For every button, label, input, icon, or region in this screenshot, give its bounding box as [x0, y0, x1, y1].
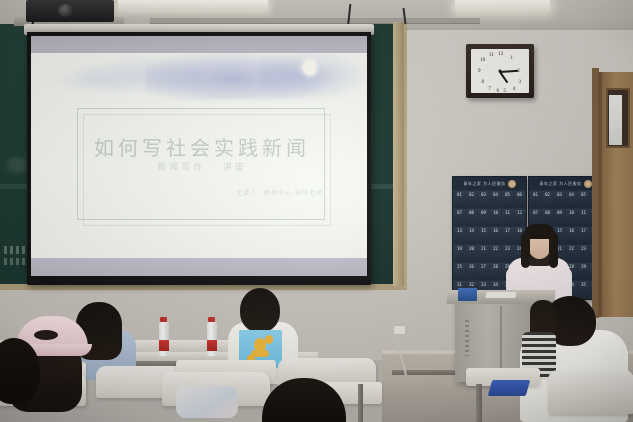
blackboard-frame	[393, 22, 404, 286]
cabinet-cell[interactable]: 03	[478, 191, 489, 208]
clock-number: 9	[478, 69, 481, 74]
cabinet-cell[interactable]: 17	[502, 227, 513, 244]
cabinet-cell[interactable]: 03	[554, 191, 565, 208]
screen-weight-bar	[27, 276, 371, 285]
clock-face: 12 1 2 3 4 5 6 7 8 9 10 11	[471, 49, 529, 93]
cabinet-cell[interactable]: 01	[454, 191, 465, 208]
cabinet-cell[interactable]: 23	[502, 245, 513, 262]
cabinet-cell[interactable]: 16	[490, 227, 501, 244]
classroom-photo: 如何写社会实践新闻 新闻写作 · 讲座 主讲人：新闻中心 指导老师 12 1 2…	[0, 0, 633, 422]
cabinet-header: 青年之家 为人民服务	[453, 177, 526, 190]
cabinet-cell[interactable]: 25	[454, 263, 465, 280]
desk-leg	[358, 384, 363, 422]
cabinet-cell[interactable]: 12	[514, 209, 525, 226]
slide-moon-icon	[303, 60, 316, 75]
cabinet-cell[interactable]: 02	[542, 191, 553, 208]
clock-number: 3	[519, 80, 522, 85]
slide-watercolor-wash	[261, 50, 367, 102]
cabinet-cell[interactable]: 07	[454, 209, 465, 226]
cabinet-cell[interactable]: 35	[578, 281, 589, 298]
cabinet-cell[interactable]: 16	[566, 227, 577, 244]
cabinet-cell[interactable]: 29	[578, 263, 589, 280]
cabinet-cell[interactable]: 11	[502, 209, 513, 226]
presenter-hair-side	[549, 232, 558, 268]
cabinet-cell[interactable]: 09	[554, 209, 565, 226]
cabinet-cell[interactable]: 13	[454, 227, 465, 244]
seal-icon	[584, 180, 592, 188]
bottle-label	[207, 340, 217, 351]
cabinet-cell[interactable]: 04	[566, 191, 577, 208]
cabinet-cell[interactable]: 23	[578, 245, 589, 262]
cabinet-cell[interactable]: 05	[578, 191, 589, 208]
cabinet-cell[interactable]: 21	[478, 245, 489, 262]
lectern-paper	[485, 292, 516, 298]
cabinet-cell[interactable]: 28	[490, 263, 501, 280]
screen-surface: 如何写社会实践新闻 新闻写作 · 讲座 主讲人：新闻中心 指导老师	[31, 36, 367, 280]
cabinet-cell[interactable]: 09	[478, 209, 489, 226]
cabinet-cell[interactable]: 22	[490, 245, 501, 262]
clock-center-pin	[499, 70, 502, 73]
cabinet-cell[interactable]: 11	[578, 209, 589, 226]
slide-credit: 主讲人：新闻中心 指导老师	[181, 188, 323, 197]
cap-hole	[34, 330, 58, 340]
cabinet-cell[interactable]: 06	[514, 191, 525, 208]
bottle-label	[159, 340, 169, 351]
clock-number: 10	[480, 58, 485, 63]
lectern-vent-icon	[465, 320, 469, 356]
presentation-slide: 如何写社会实践新闻 新闻写作 · 讲座 主讲人：新闻中心 指导老师	[31, 36, 367, 280]
clock-number: 6	[497, 89, 500, 94]
cabinet-cell[interactable]: 08	[466, 209, 477, 226]
student-white-tee-head	[240, 288, 280, 332]
wall-clock: 12 1 2 3 4 5 6 7 8 9 10 11	[466, 44, 534, 98]
clock-number: 4	[513, 87, 516, 92]
presenter-hair-side	[521, 232, 530, 268]
cabinet-cell[interactable]: 15	[478, 227, 489, 244]
cabinet-cell[interactable]: 22	[566, 245, 577, 262]
clock-hour-hand	[499, 71, 508, 83]
cabinet-cell[interactable]: 01	[530, 191, 541, 208]
clock-number: 11	[489, 53, 494, 58]
ceiling-light-icon	[118, 0, 268, 11]
cabinet-cell[interactable]: 17	[578, 227, 589, 244]
cabinet-cell[interactable]: 02	[466, 191, 477, 208]
ceiling-conduit	[150, 18, 480, 23]
blue-folder	[488, 380, 531, 396]
lectern-device[interactable]	[458, 288, 477, 301]
clock-number: 8	[481, 80, 484, 85]
cabinet-cell[interactable]: 04	[490, 191, 501, 208]
clock-number: 7	[488, 87, 491, 92]
cabinet-cell[interactable]: 27	[478, 263, 489, 280]
desk-leg	[476, 384, 482, 422]
ceiling-light-icon	[455, 0, 550, 12]
cabinet-cell[interactable]: 20	[466, 245, 477, 262]
cabinet-header-label: 青年之家 为人民服务	[463, 181, 505, 187]
clothing-pile	[176, 386, 238, 418]
seat-back	[548, 370, 633, 414]
slide-subtitle: 新闻写作 · 讲座	[77, 160, 327, 173]
projection-screen: 如何写社会实践新闻 新闻写作 · 讲座 主讲人：新闻中心 指导老师	[27, 32, 371, 284]
seal-icon	[508, 180, 516, 188]
clock-number: 5	[503, 89, 506, 94]
cabinet-cell[interactable]: 19	[454, 245, 465, 262]
cabinet-header-label: 青年之家 为人民服务	[539, 181, 581, 187]
clock-minute-hand	[500, 70, 518, 73]
cabinet-cell[interactable]: 05	[502, 191, 513, 208]
bottle-cap	[208, 317, 215, 322]
cabinet-cell[interactable]: 10	[490, 209, 501, 226]
chalk-smudge	[6, 157, 28, 173]
clock-number: 1	[510, 56, 513, 61]
cabinet-cell[interactable]: 10	[566, 209, 577, 226]
cabinet-cell[interactable]: 26	[466, 263, 477, 280]
slide-watercolor-wash	[51, 66, 141, 94]
cabinet-cell[interactable]: 14	[466, 227, 477, 244]
bottle-cap	[160, 317, 167, 322]
projector-lens-icon	[58, 4, 74, 17]
slide-title: 如何写社会实践新闻	[77, 132, 327, 161]
wall-outlet-icon	[393, 325, 406, 335]
door-curtain	[609, 95, 622, 145]
clock-number: 12	[498, 52, 503, 57]
